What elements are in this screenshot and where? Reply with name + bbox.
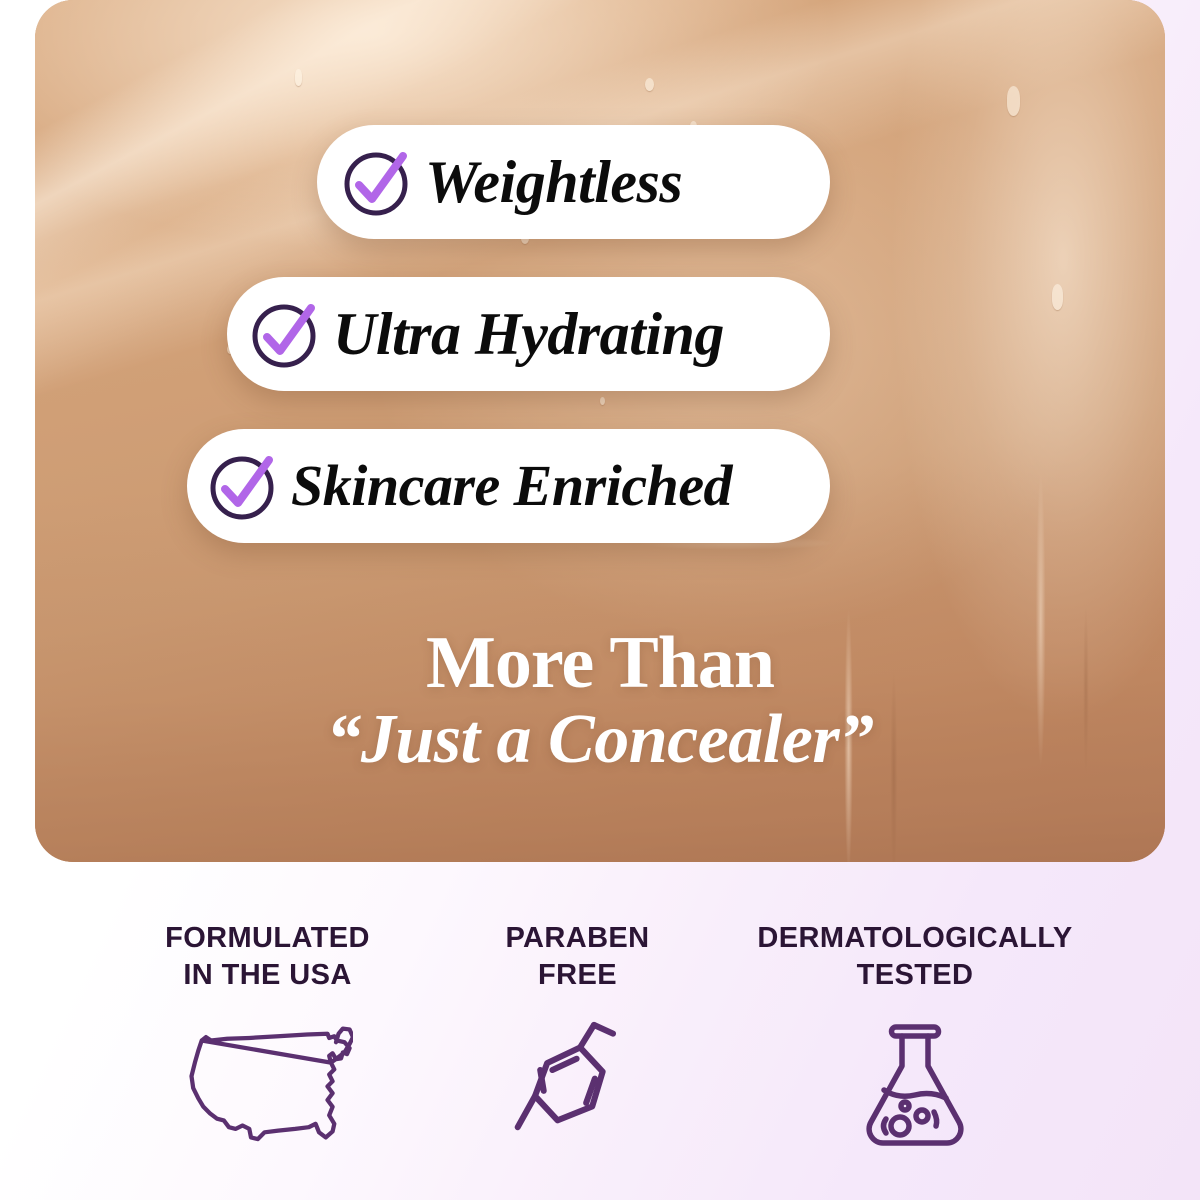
check-circle-icon: [207, 449, 281, 523]
hero-headline: More Than “Just a Concealer”: [0, 626, 1200, 777]
claim-label: DERMATOLOGICALLY TESTED: [720, 920, 1110, 994]
claim-label: FORMULATED IN THE USA: [120, 920, 415, 994]
benefit-pill-label: Weightless: [425, 152, 682, 212]
claim-paraben-free: PARABEN FREE: [470, 920, 685, 1148]
claim-formulated-in-usa: FORMULATED IN THE USA: [120, 920, 415, 1148]
headline-line-1: More Than: [0, 626, 1200, 701]
usa-map-icon: [183, 1018, 353, 1148]
benefit-pill-weightless: Weightless: [317, 125, 830, 239]
benefit-pill-label: Skincare Enriched: [291, 457, 732, 515]
claims-row: FORMULATED IN THE USA PARABEN FREE: [0, 920, 1200, 1180]
claim-dermatologically-tested: DERMATOLOGICALLY TESTED: [720, 920, 1110, 1150]
claim-label: PARABEN FREE: [470, 920, 685, 994]
benefit-pill-label: Ultra Hydrating: [333, 304, 724, 364]
check-circle-icon: [249, 297, 323, 371]
benefit-pill-ultra-hydrating: Ultra Hydrating: [227, 277, 830, 391]
molecule-icon: [510, 1018, 645, 1148]
benefit-pill-skincare-enriched: Skincare Enriched: [187, 429, 830, 543]
check-circle-icon: [341, 145, 415, 219]
flask-icon: [859, 1018, 971, 1150]
headline-line-2: “Just a Concealer”: [0, 703, 1200, 777]
